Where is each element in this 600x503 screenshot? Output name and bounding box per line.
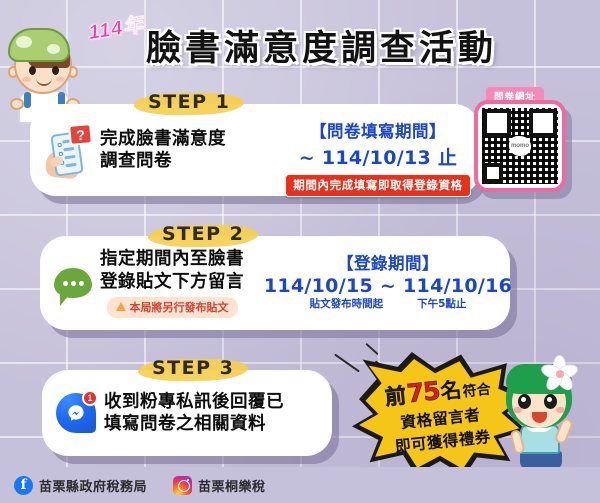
facebook-account[interactable]: f 苗栗縣政府稅務局 (14, 476, 147, 495)
girl-blush-left (513, 407, 522, 413)
qr-code-image: momo (482, 108, 558, 184)
step-3-card: 1 收到粉專私訊後回覆已 填寫問卷之相關資料 (42, 370, 332, 456)
step-1-info-date: ~ 114/10/13 止 (299, 143, 457, 170)
step-2-headline-line1: 指定期間內至臉書 (100, 248, 244, 270)
boy-arm-left (10, 98, 24, 110)
step-1-label: STEP 1 (134, 90, 244, 116)
step-2-info-title: 【登錄期間】 (337, 250, 439, 274)
step-2-warning-text: 本局將另行發布貼文 (130, 299, 229, 315)
girl-blush-right (556, 407, 565, 413)
instagram-icon (173, 476, 192, 495)
boy-blush-left (22, 77, 31, 82)
poster-canvas: 114年 臉書滿意度調查活動 STEP 1 (0, 0, 600, 503)
step-1-headline-line2: 調查問卷 (100, 150, 226, 172)
boy-eye-left (29, 66, 36, 75)
burst-prefix: 前 (383, 380, 407, 412)
step-2-label: STEP 2 (148, 222, 258, 248)
girl-mascot (492, 352, 600, 474)
step-1-info-title: 【問卷填寫期間】 (310, 118, 446, 142)
burst-number: 75 (405, 376, 441, 408)
messenger-unread-badge: 1 (82, 390, 98, 406)
burst-unit: 名 (439, 374, 463, 406)
facebook-label: 苗栗縣政府稅務局 (39, 476, 147, 495)
step-3-headline-line1: 收到粉專私訊後回覆已 (104, 391, 284, 413)
step-2-info-block: 【登錄期間】 114/10/15 ~ 114/10/16 貼文發布時間起 下午5… (268, 250, 508, 311)
step-1-info-block: 【問卷填寫期間】 ~ 114/10/13 止 期間內完成填寫即取得登錄資格 (278, 118, 478, 197)
boy-eye-right (52, 66, 59, 75)
boy-blush-right (56, 77, 65, 82)
page-title: 臉書滿意度調查活動 (146, 20, 497, 71)
green-chat-bubble-icon (54, 268, 92, 298)
footer-bar: f 苗栗縣政府稅務局 苗栗桐樂稅 (0, 467, 600, 503)
step-2-note-end: 下午5點止 (417, 296, 466, 311)
step-1-red-badge: 期間內完成填寫即取得登錄資格 (285, 174, 470, 197)
messenger-icon: 1 (56, 393, 96, 433)
step-1-headline-line1: 完成臉書滿意度 (100, 128, 226, 150)
tung-flower-icon (540, 354, 580, 390)
qr-code-panel[interactable]: momo (474, 100, 566, 192)
step-2-headline-line2: 登錄貼文下方留言 (100, 271, 244, 293)
girl-eye-right (544, 394, 557, 409)
phone-survey-icon: ? (44, 122, 92, 178)
step-3-label: STEP 3 (138, 356, 248, 382)
instagram-account[interactable]: 苗栗桐樂稅 (173, 476, 266, 495)
burst-tail: 符合 (462, 379, 492, 402)
step-2-info-date: 114/10/15 ~ 114/10/16 (264, 275, 512, 297)
facebook-icon: f (14, 476, 33, 495)
qr-center-logo: momo (509, 136, 531, 156)
step-3-headline-line2: 填寫問卷之相關資料 (104, 413, 284, 435)
instagram-label: 苗栗桐樂稅 (198, 476, 266, 495)
step-2-note-start: 貼文發布時間起 (310, 296, 384, 311)
warning-triangle-icon (116, 302, 126, 311)
boy-cap (8, 28, 70, 62)
step-2-warning-badge: 本局將另行發布貼文 (107, 297, 238, 318)
